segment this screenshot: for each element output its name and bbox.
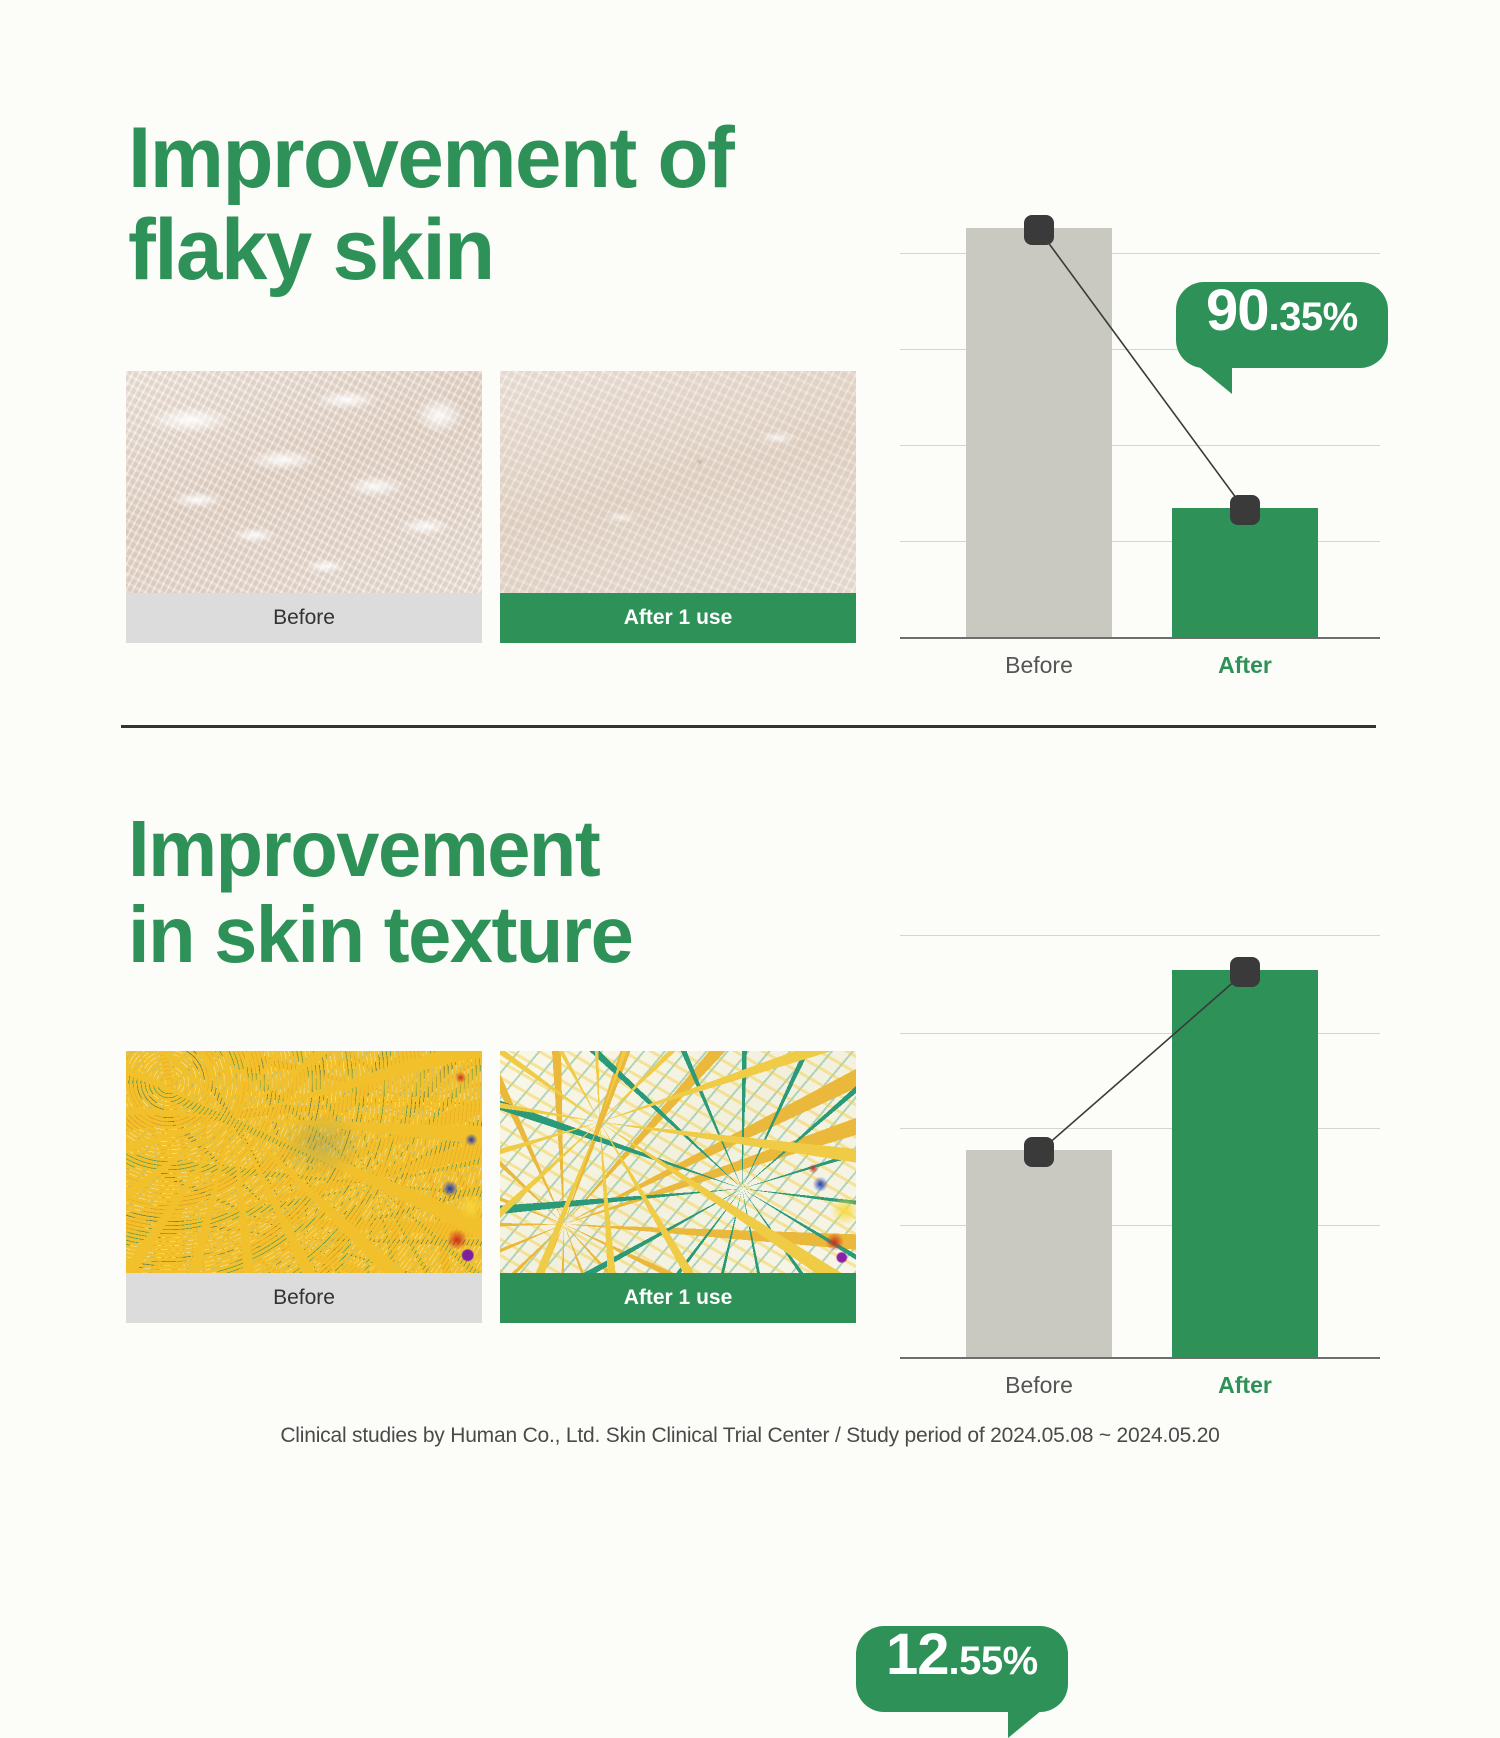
footer-disclaimer: Clinical studies by Human Co., Ltd. Skin… [0, 1424, 1500, 1448]
section-title-flaky-skin: Improvement of flaky skin [128, 112, 733, 296]
photo-caption-after: After 1 use [500, 1273, 856, 1323]
x-axis-label-before: Before [959, 1372, 1119, 1399]
section-flaky-skin: Improvement of flaky skin Before After 1… [0, 0, 1500, 726]
callout-value: 12 [886, 1626, 949, 1684]
photo-card-after: After 1 use [500, 1051, 856, 1323]
photo-card-before: Before [126, 371, 482, 643]
skin-photo-after-flaky [500, 371, 856, 593]
chart-x-axis-labels: Before After [900, 1372, 1380, 1412]
x-axis-label-after: After [1165, 1372, 1325, 1399]
chart-plot-area [900, 926, 1380, 1359]
callout-suffix: .35% [1269, 297, 1358, 337]
data-point-marker-before [1024, 215, 1054, 245]
bar-after [1172, 970, 1318, 1357]
skin-photo-before-flaky [126, 371, 482, 593]
x-axis-label-after: After [1165, 652, 1325, 679]
bar-before [966, 1150, 1112, 1357]
photo-caption-before: Before [126, 1273, 482, 1323]
skin-photo-before-texture [126, 1051, 482, 1273]
photo-comparison-skin-texture: Before After 1 use [126, 1051, 856, 1323]
chart-baseline-axis [900, 637, 1380, 639]
section-skin-texture: Improvement in skin texture Before After… [0, 726, 1500, 1426]
skin-photo-after-texture [500, 1051, 856, 1273]
bar-before [966, 228, 1112, 637]
photo-caption-after: After 1 use [500, 593, 856, 643]
bar-chart-flaky-skin: Before After [900, 206, 1380, 696]
callout-tail-icon [1008, 1710, 1042, 1738]
photo-card-after: After 1 use [500, 371, 856, 643]
chart-baseline-axis [900, 1357, 1380, 1359]
callout-bubble-flaky-skin: 90 .35% [1176, 282, 1388, 368]
photo-card-before: Before [126, 1051, 482, 1323]
gridline [900, 935, 1380, 936]
chart-plot-area [900, 206, 1380, 639]
section-title-skin-texture: Improvement in skin texture [128, 806, 632, 977]
x-axis-label-before: Before [959, 652, 1119, 679]
data-point-marker-before [1024, 1137, 1054, 1167]
bar-after [1172, 508, 1318, 637]
data-point-marker-after [1230, 495, 1260, 525]
callout-value: 90 [1206, 282, 1269, 340]
infographic-page: Improvement of flaky skin Before After 1… [0, 0, 1500, 1500]
photo-caption-before: Before [126, 593, 482, 643]
callout-suffix: .55% [949, 1641, 1038, 1681]
bar-chart-skin-texture: Before After [900, 926, 1380, 1416]
callout-bubble-skin-texture: 12 .55% [856, 1626, 1068, 1712]
photo-comparison-flaky-skin: Before After 1 use [126, 371, 856, 643]
chart-x-axis-labels: Before After [900, 652, 1380, 692]
data-point-marker-after [1230, 957, 1260, 987]
callout-tail-icon [1198, 366, 1232, 394]
